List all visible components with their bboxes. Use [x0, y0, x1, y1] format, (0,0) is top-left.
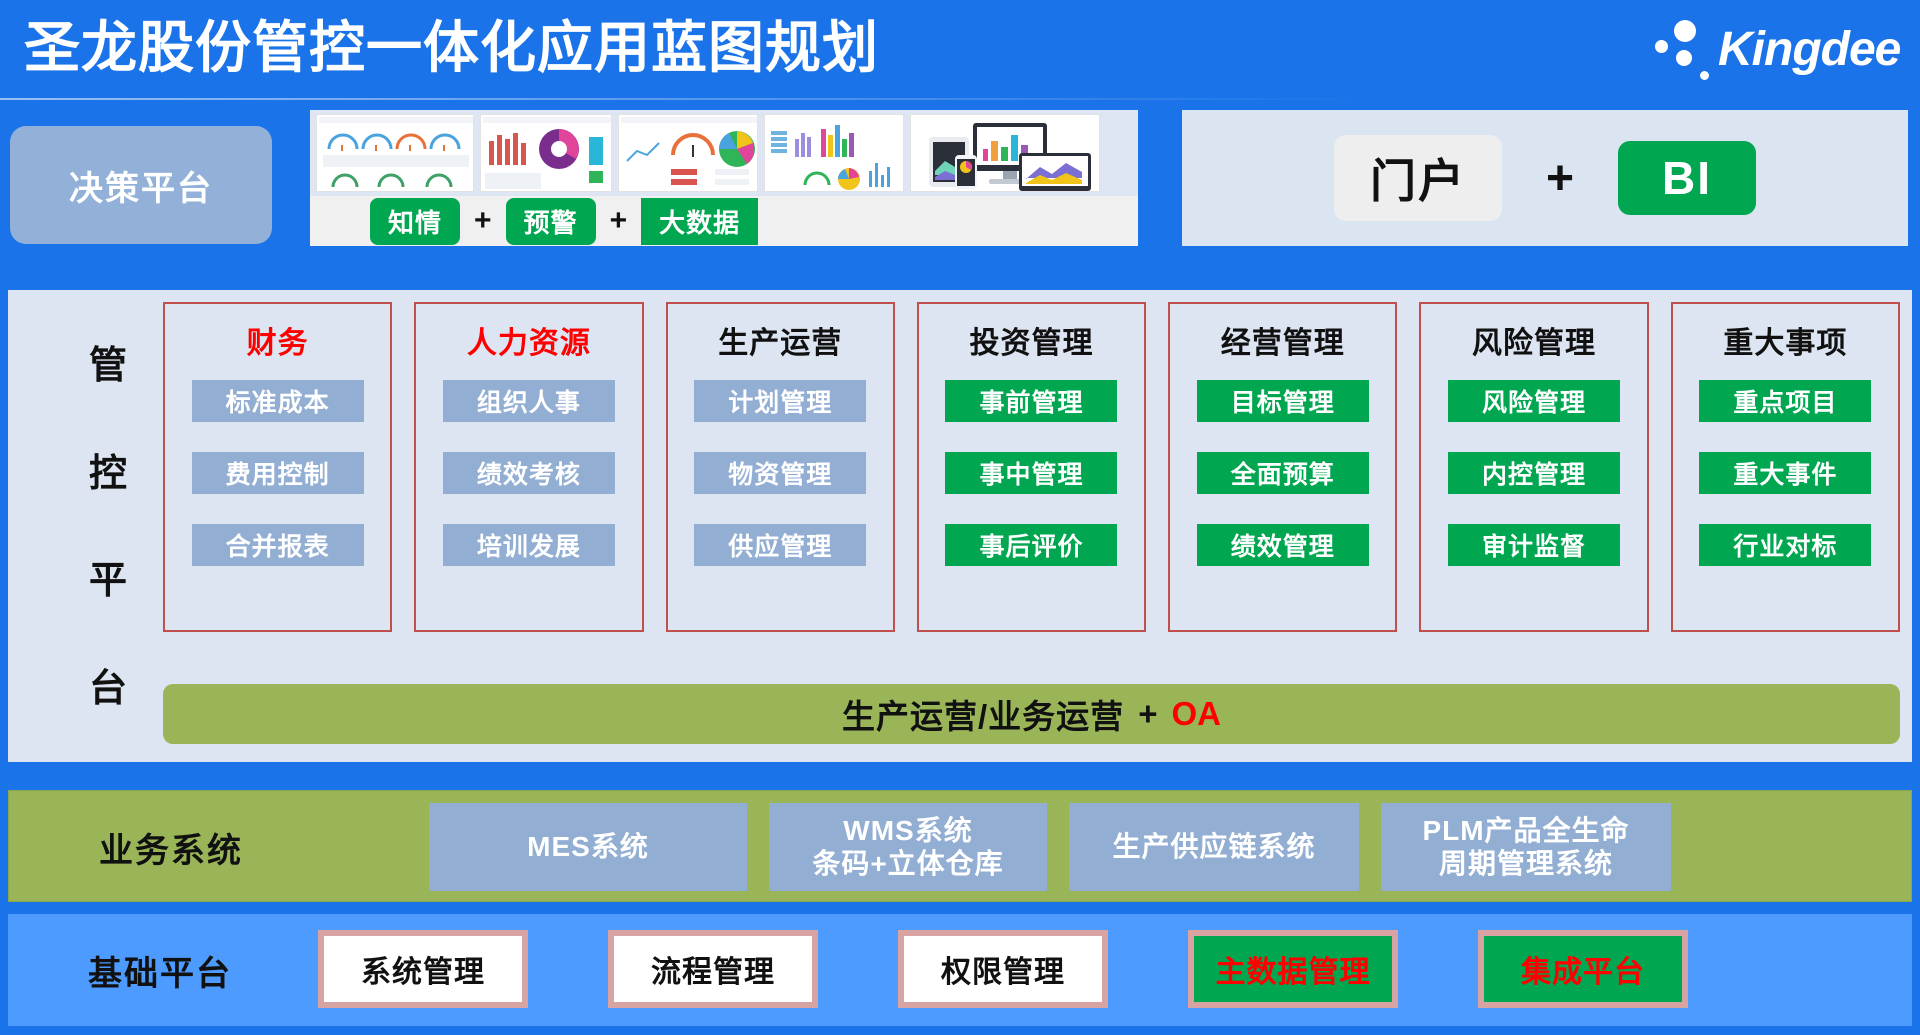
module-chip[interactable]: 合并报表	[192, 524, 364, 566]
module-chip[interactable]: 行业对标	[1699, 524, 1871, 566]
dashboard-gauge-pie-thumbnail	[618, 114, 758, 192]
kingdee-dots-icon	[1652, 14, 1722, 84]
biz-line2: 条码+立体仓库	[812, 847, 1003, 880]
module-chip[interactable]: 培训发展	[443, 524, 615, 566]
dashboard-bar-donut-thumbnail	[480, 114, 612, 192]
biz-line1: MES系统	[527, 830, 649, 863]
module-chip[interactable]: 物资管理	[694, 452, 866, 494]
column-title: 风险管理	[1472, 318, 1596, 362]
biz-line1: PLM产品全生命	[1422, 814, 1629, 847]
column-title: 财务	[247, 318, 309, 362]
plus-icon-2: +	[610, 204, 628, 238]
biz-line1: WMS系统	[843, 814, 972, 847]
module-chip[interactable]: 事前管理	[945, 380, 1117, 422]
business-system-wms[interactable]: WMS系统 条码+立体仓库	[769, 803, 1047, 891]
blueprint-page: 圣龙股份管控一体化应用蓝图规划 Kingdee 决策平台	[0, 0, 1920, 1035]
decision-tag-row: 知情 + 预警 + 大数据	[310, 196, 1138, 246]
module-chip[interactable]: 风险管理	[1448, 380, 1620, 422]
base-item-process-management[interactable]: 流程管理	[608, 930, 818, 1008]
business-system-plm[interactable]: PLM产品全生命 周期管理系统	[1381, 803, 1671, 891]
module-chip[interactable]: 重点项目	[1699, 380, 1871, 422]
oa-label: OA	[1171, 695, 1221, 733]
business-systems-items: MES系统 WMS系统 条码+立体仓库 生产供应链系统 PLM产品全生命 周期管…	[429, 803, 1893, 891]
column-production: 生产运营 计划管理 物资管理 供应管理	[666, 302, 895, 632]
base-item-permission-management[interactable]: 权限管理	[898, 930, 1108, 1008]
base-item-system-management[interactable]: 系统管理	[318, 930, 528, 1008]
kingdee-logo: Kingdee	[1652, 14, 1902, 84]
column-title: 重大事项	[1723, 318, 1847, 362]
oa-bar-text: 生产运营/业务运营	[842, 690, 1124, 738]
module-chip[interactable]: 事中管理	[945, 452, 1117, 494]
base-platform-items: 系统管理 流程管理 权限管理 主数据管理 集成平台	[318, 930, 1872, 1008]
base-item-integration-platform[interactable]: 集成平台	[1478, 930, 1688, 1008]
portal-bi-panel: 门户 + BI	[1182, 110, 1908, 246]
column-title: 经营管理	[1221, 318, 1345, 362]
biz-line2: 周期管理系统	[1439, 847, 1613, 880]
module-chip[interactable]: 全面预算	[1197, 452, 1369, 494]
vlabel-char-2: 控	[89, 442, 127, 497]
column-hr: 人力资源 组织人事 绩效考核 培训发展	[414, 302, 643, 632]
biz-line1: 生产供应链系统	[1112, 830, 1315, 863]
column-title: 人力资源	[467, 318, 591, 362]
plus-icon-portal: +	[1546, 151, 1574, 206]
bi-button[interactable]: BI	[1618, 141, 1756, 215]
business-systems-label: 业务系统	[99, 791, 243, 903]
multidevice-bi-thumbnail	[910, 114, 1100, 192]
tag-dashuju[interactable]: 大数据	[641, 198, 758, 245]
dashboard-charts-thumbnail	[764, 114, 904, 192]
control-platform-columns: 财务 标准成本 费用控制 合并报表 人力资源 组织人事 绩效考核 培训发展 生产…	[163, 302, 1900, 632]
module-chip[interactable]: 绩效考核	[443, 452, 615, 494]
column-finance: 财务 标准成本 费用控制 合并报表	[163, 302, 392, 632]
module-chip[interactable]: 费用控制	[192, 452, 364, 494]
vlabel-char-1: 管	[89, 334, 127, 389]
module-chip[interactable]: 事后评价	[945, 524, 1117, 566]
tag-yujing[interactable]: 预警	[506, 198, 596, 245]
column-title: 生产运营	[718, 318, 842, 362]
business-system-supply-chain[interactable]: 生产供应链系统	[1069, 803, 1359, 891]
portal-button[interactable]: 门户	[1334, 135, 1502, 221]
module-chip[interactable]: 内控管理	[1448, 452, 1620, 494]
base-item-master-data-management[interactable]: 主数据管理	[1188, 930, 1398, 1008]
module-chip[interactable]: 标准成本	[192, 380, 364, 422]
module-chip[interactable]: 审计监督	[1448, 524, 1620, 566]
module-chip[interactable]: 绩效管理	[1197, 524, 1369, 566]
module-chip[interactable]: 计划管理	[694, 380, 866, 422]
control-platform-section: 管 控 平 台 财务 标准成本 费用控制 合并报表 人力资源 组织人事 绩效考核…	[8, 290, 1912, 762]
oa-bar[interactable]: 生产运营/业务运营 + OA	[163, 684, 1900, 744]
vlabel-char-3: 平	[89, 549, 127, 604]
column-major-items: 重大事项 重点项目 重大事件 行业对标	[1671, 302, 1900, 632]
module-chip[interactable]: 供应管理	[694, 524, 866, 566]
page-title: 圣龙股份管控一体化应用蓝图规划	[24, 8, 879, 88]
base-platform-section: 基础平台 系统管理 流程管理 权限管理 主数据管理 集成平台	[8, 914, 1912, 1026]
vlabel-char-4: 台	[89, 657, 127, 712]
column-operations: 经营管理 目标管理 全面预算 绩效管理	[1168, 302, 1397, 632]
base-platform-label: 基础平台	[88, 914, 232, 1026]
plus-icon-oa: +	[1138, 695, 1157, 733]
decision-platform-label: 决策平台	[10, 126, 272, 244]
decision-panel: 知情 + 预警 + 大数据	[310, 110, 1138, 246]
header-divider	[0, 98, 1380, 100]
dashboard-gauges-thumbnail	[316, 114, 474, 192]
control-platform-label: 管 控 平 台	[63, 308, 153, 738]
column-investment: 投资管理 事前管理 事中管理 事后评价	[917, 302, 1146, 632]
module-chip[interactable]: 重大事件	[1699, 452, 1871, 494]
business-system-mes[interactable]: MES系统	[429, 803, 747, 891]
business-systems-section: 业务系统 MES系统 WMS系统 条码+立体仓库 生产供应链系统 PLM产品全生…	[8, 790, 1912, 902]
column-title: 投资管理	[969, 318, 1093, 362]
dashboard-thumbnail-strip	[310, 110, 1138, 196]
tag-zhiqing[interactable]: 知情	[370, 198, 460, 245]
decision-platform-row: 决策平台	[0, 104, 1920, 244]
module-chip[interactable]: 目标管理	[1197, 380, 1369, 422]
kingdee-wordmark: Kingdee	[1718, 22, 1900, 78]
module-chip[interactable]: 组织人事	[443, 380, 615, 422]
page-header: 圣龙股份管控一体化应用蓝图规划 Kingdee	[0, 0, 1920, 100]
column-risk: 风险管理 风险管理 内控管理 审计监督	[1419, 302, 1648, 632]
plus-icon-1: +	[474, 204, 492, 238]
